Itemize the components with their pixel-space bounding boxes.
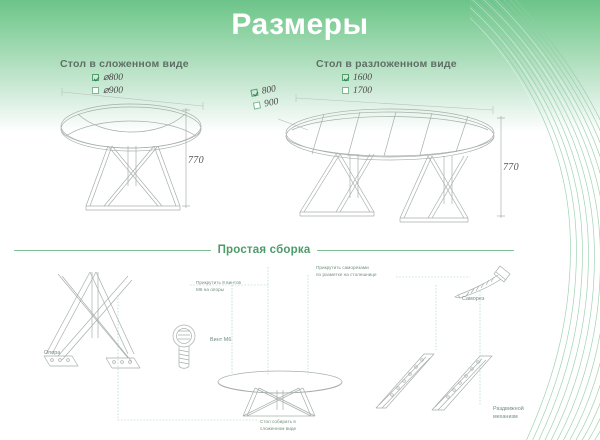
unfolded-table-drawing (278, 88, 518, 228)
assembly-connector-lines (0, 255, 600, 440)
checkbox-unchecked-icon[interactable] (253, 101, 261, 109)
divider-rule-right (317, 250, 514, 251)
annotation-selftap-to-top: Прикрутить саморезами по разметке на сто… (316, 265, 377, 278)
unfolded-height-label: 770 (503, 162, 519, 173)
checkbox-checked-icon[interactable] (92, 74, 99, 81)
page-title: Размеры (0, 8, 600, 42)
option-label: 800 (261, 84, 277, 97)
divider-rule-left (14, 250, 211, 251)
folded-height-label: 770 (188, 155, 204, 166)
option-label: 1600 (353, 73, 372, 83)
width-option-group[interactable]: 800 900 (250, 83, 280, 113)
option-label: 900 (263, 96, 279, 109)
infographic-page: Размеры Стол в сложенном виде (0, 0, 600, 440)
checkbox-checked-icon[interactable] (250, 89, 258, 97)
option-row: ⌀800 (92, 72, 123, 83)
folded-table-drawing (48, 86, 248, 221)
section-heading-folded: Стол в сложенном виде (60, 58, 189, 70)
option-row: 900 (252, 96, 279, 112)
annotation-screws-to-legs: Прикрутить 8 винтов М6 на опоры (196, 280, 241, 293)
option-row: 1600 (342, 72, 372, 83)
annotation-assemble-folded: Стол собирать в сложенном виде (260, 419, 296, 432)
checkbox-checked-icon[interactable] (342, 74, 349, 81)
option-label: ⌀800 (103, 72, 123, 83)
section-heading-unfolded: Стол в разложенном виде (316, 58, 457, 70)
